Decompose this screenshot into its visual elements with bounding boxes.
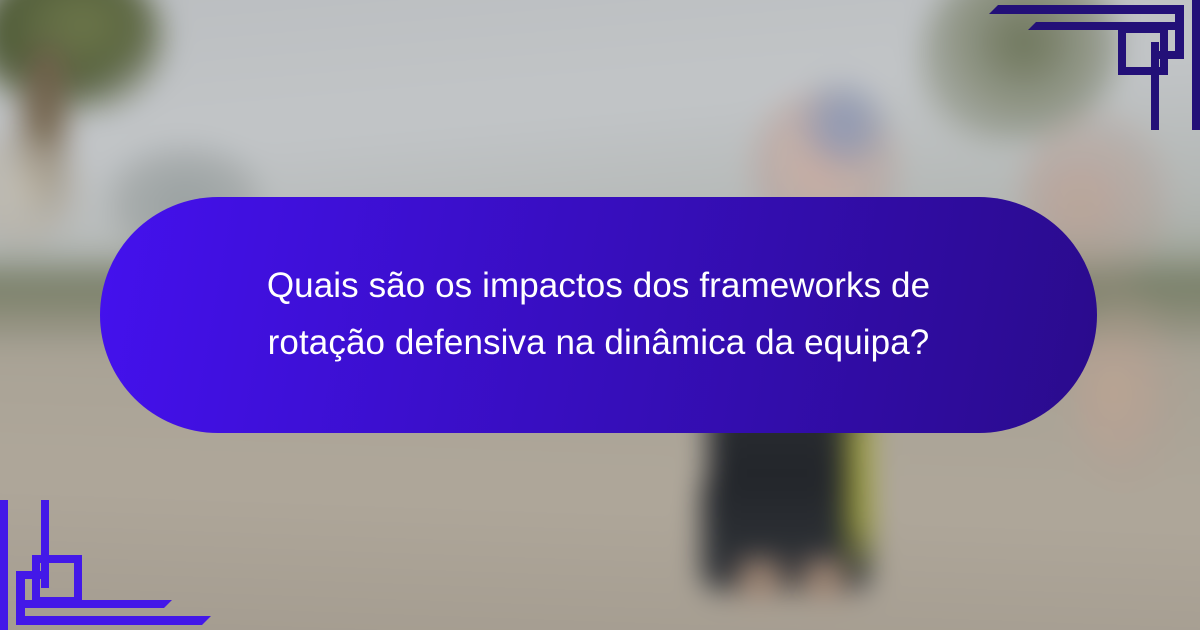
ornament-bar-long [998,5,1176,14]
corner-ornament-bottom-left-icon [0,500,210,630]
ornament-bar-long [24,616,202,625]
person-leg-right [802,560,846,600]
social-card-canvas: Quais são os impactos dos frameworks de … [0,0,1200,630]
ornament-vertical-edge [0,500,8,630]
question-text: Quais são os impactos dos frameworks de … [229,258,969,371]
ornament-vertical-outer [16,571,25,625]
ornament-square [32,555,82,605]
ornament-vertical-edge [1192,0,1200,130]
ornament-vertical-drop [41,500,49,588]
corner-ornament-top-right-icon [990,0,1200,130]
question-card: Quais são os impactos dos frameworks de … [100,197,1097,433]
ornament-horizontal-join [1158,51,1184,59]
person-leg-left [738,560,782,600]
ornament-square [1118,25,1168,75]
background-blur-blob [800,80,886,170]
ornament-horizontal-join [16,571,42,579]
